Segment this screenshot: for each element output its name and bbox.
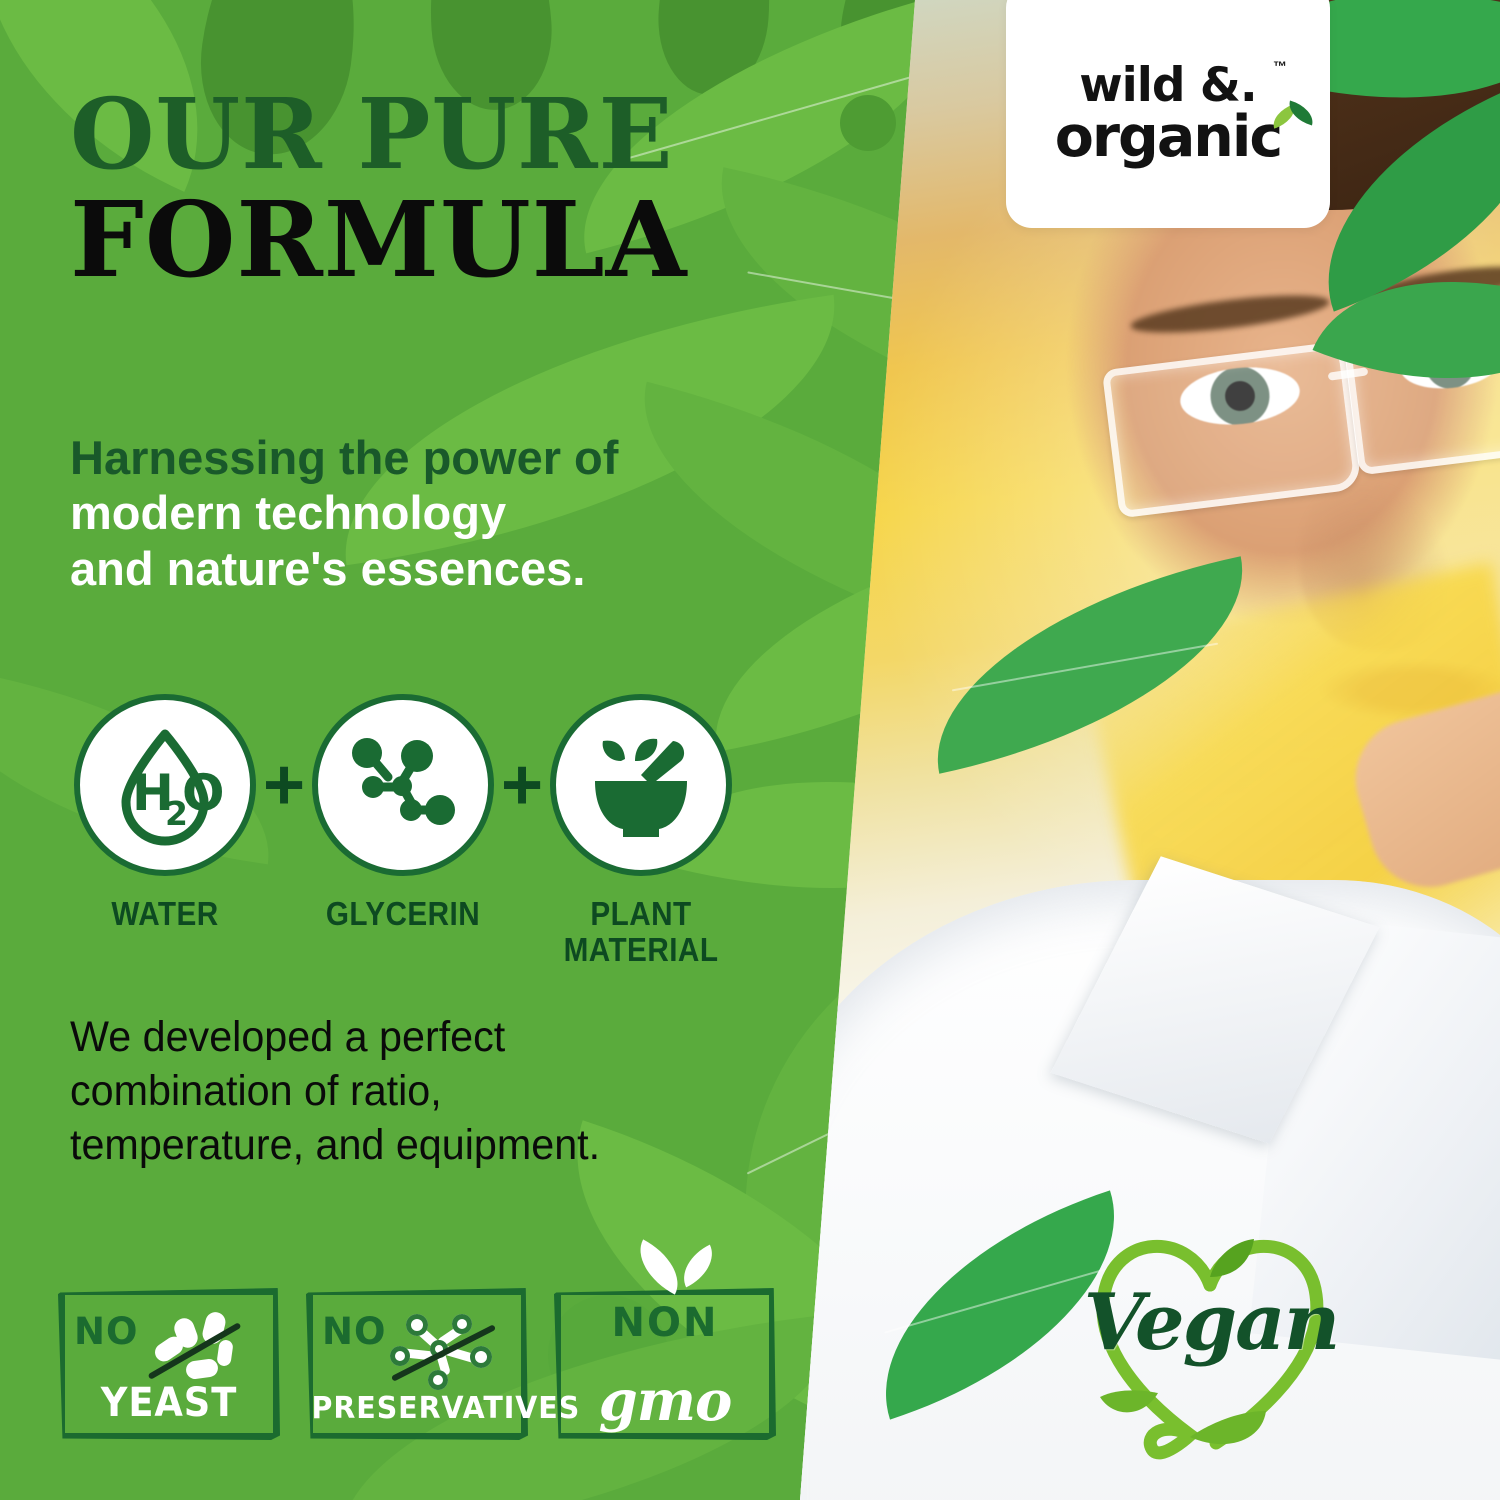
- page-title: OUR PURE FORMULA: [70, 88, 900, 293]
- claim-word: PRESERVATIVES: [312, 1391, 523, 1426]
- plus-symbol-1: +: [258, 694, 310, 876]
- vegan-label: Vegan: [1076, 1277, 1346, 1368]
- body-copy-line1: We developed a perfect: [70, 1010, 800, 1064]
- lead-line3: and nature's essences.: [70, 541, 810, 596]
- ingredient-label-line2: MATERIAL: [564, 931, 719, 968]
- body-copy-line2: combination of ratio,: [70, 1064, 800, 1118]
- claim-no-preservatives: NO PRESERVATIVES: [306, 1288, 528, 1440]
- molecule-icon: [340, 722, 466, 848]
- lead-line1: Harnessing the power of: [70, 430, 810, 485]
- ingredient-icon-circle: H 2 O: [74, 694, 256, 876]
- body-copy-line3: temperature, and equipment.: [70, 1118, 800, 1172]
- product-infographic-poster: ™ wild &. organic OUR PURE FORMULA Harne…: [0, 0, 1500, 1500]
- mortar-pestle-icon: [577, 721, 705, 849]
- claim-word: gmo: [554, 1368, 776, 1434]
- claim-non-gmo: NON gmo: [554, 1288, 776, 1440]
- ingredient-icon-circle: [550, 694, 732, 876]
- brand-logo: ™ wild &. organic: [1033, 64, 1303, 165]
- ingredient-glycerin: GLYCERIN: [310, 694, 496, 932]
- ingredient-label: PLANT MATERIAL: [557, 896, 724, 967]
- lead-line2: modern technology: [70, 485, 810, 540]
- claim-no-yeast: NO YEAST: [58, 1288, 280, 1440]
- glasses-lens: [1102, 341, 1362, 519]
- ingredient-label-line1: PLANT: [590, 895, 691, 932]
- lead-paragraph: Harnessing the power of modern technolog…: [70, 430, 810, 596]
- claim-prefix: NO: [74, 1310, 138, 1353]
- ingredient-icon-circle: [312, 694, 494, 876]
- ingredient-water: H 2 O WATER: [72, 694, 258, 932]
- claim-prefix: NO: [322, 1310, 386, 1353]
- ingredient-label: GLYCERIN: [319, 896, 486, 932]
- claim-prefix: NON: [554, 1300, 776, 1346]
- body-copy: We developed a perfect combination of ra…: [70, 1010, 830, 1173]
- brand-logo-card[interactable]: ™ wild &. organic: [1006, 0, 1330, 228]
- svg-text:O: O: [182, 764, 225, 822]
- brand-logo-line1: wild &.: [1033, 64, 1303, 109]
- water-drop-h2o-icon: H 2 O: [102, 722, 228, 848]
- claim-badges: NO YEAST NO: [58, 1288, 818, 1440]
- headline-line1: OUR PURE: [70, 88, 900, 181]
- ingredients-row: H 2 O WATER +: [72, 694, 832, 967]
- headline-line2: FORMULA: [70, 187, 900, 293]
- brand-logo-line2: organic: [1033, 110, 1303, 164]
- vegan-badge: Vegan: [1040, 1225, 1380, 1500]
- plus-symbol-2: +: [496, 694, 548, 876]
- trademark-symbol: ™: [1273, 58, 1287, 74]
- ingredient-label: WATER: [81, 896, 248, 932]
- ingredient-plant-material: PLANT MATERIAL: [548, 694, 734, 967]
- claim-word: YEAST: [67, 1380, 271, 1426]
